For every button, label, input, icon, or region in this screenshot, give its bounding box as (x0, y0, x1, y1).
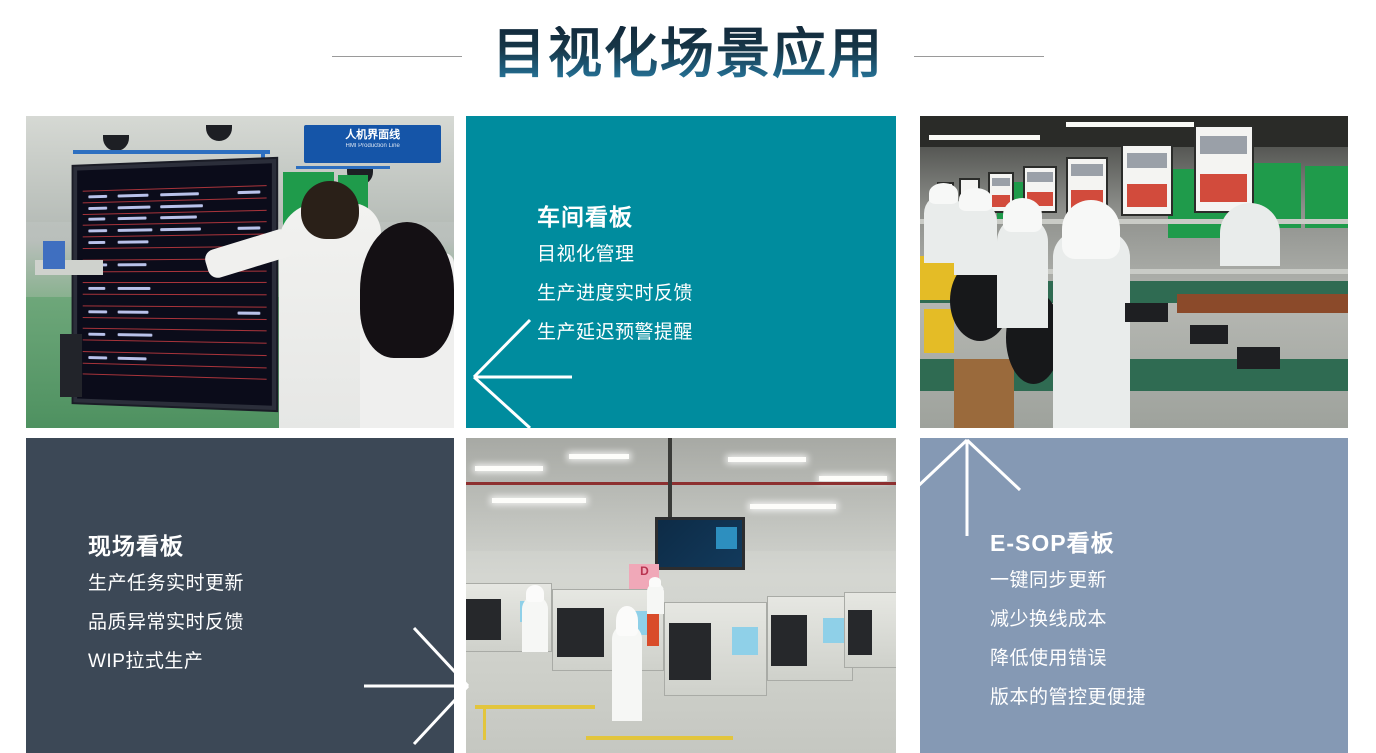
photo-esop-line (920, 116, 1348, 428)
light-tube (1066, 122, 1194, 127)
page-header: 目视化场景应用 (0, 0, 1376, 112)
production-line-sign: 人机界面线 HMI Production Line (304, 125, 441, 162)
light-tube (929, 135, 1040, 140)
equipment-box (60, 334, 81, 396)
title-rule-right (914, 56, 1044, 57)
smt-machine (767, 596, 853, 681)
machine-operator (647, 583, 664, 615)
kanban-display-board (73, 159, 276, 410)
machine-operator (612, 624, 642, 722)
worker-head (301, 181, 359, 239)
title-rule-left (332, 56, 462, 57)
light-tube (569, 454, 629, 459)
floor-marking (475, 705, 595, 709)
assembly-worker (1053, 231, 1130, 428)
assembly-worker (1220, 203, 1280, 265)
light-tube (475, 466, 544, 471)
worker-hair (360, 222, 454, 358)
panel-workshop-kanban (466, 116, 896, 428)
sign-label-en: HMI Production Line (304, 143, 441, 150)
smt-machine (664, 602, 767, 697)
page-title: 目视化场景应用 (492, 26, 884, 87)
floor-marking (483, 709, 486, 741)
esop-monitor (1194, 125, 1254, 212)
light-tube (750, 504, 836, 509)
panel-onsite-kanban (26, 438, 454, 753)
carton-box (954, 359, 1014, 428)
smt-machine (844, 592, 896, 668)
parts-bin (924, 309, 954, 353)
seated-worker (43, 241, 64, 269)
photo-smt-floor: D (466, 438, 896, 753)
rack-frame (73, 150, 270, 154)
light-tube (492, 498, 587, 503)
photo-dashboard-room: 人机界面线 HMI Production Line (26, 116, 454, 428)
light-tube (819, 476, 888, 481)
product-unit (1237, 347, 1280, 369)
conveyor-rollers (1177, 294, 1348, 313)
content-grid: 人机界面线 HMI Production Line (26, 116, 1348, 753)
product-unit (1125, 303, 1168, 322)
panel-esop-kanban (920, 438, 1348, 753)
esop-monitor (1121, 144, 1172, 216)
assembly-worker (997, 216, 1048, 328)
assembly-worker (954, 200, 997, 275)
light-tube (728, 457, 805, 462)
floor-marking (586, 736, 732, 740)
sign-label-cn: 人机界面线 (345, 129, 400, 141)
ceiling (920, 116, 1348, 147)
product-unit (1190, 325, 1229, 344)
ceiling-pipe (466, 482, 896, 485)
rack-frame (296, 166, 390, 169)
monitor-mount (668, 438, 672, 520)
worker-observing (360, 253, 454, 428)
hanging-kanban-monitor (655, 517, 745, 571)
machine-operator (522, 596, 548, 653)
